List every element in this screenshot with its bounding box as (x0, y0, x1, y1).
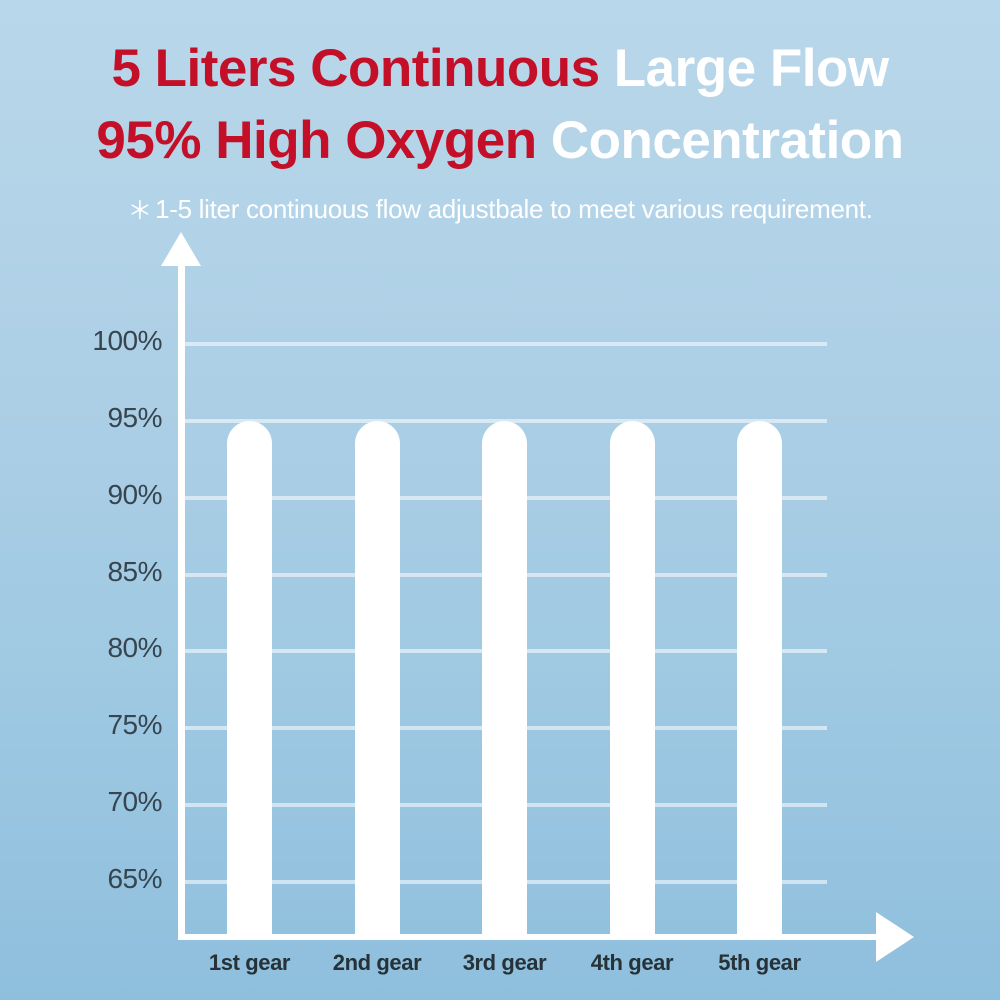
bar (737, 421, 782, 936)
y-axis-line (178, 262, 185, 940)
y-axis-tick-label: 65% (52, 863, 162, 895)
y-axis-tick-label: 75% (52, 709, 162, 741)
y-axis-arrow-icon (161, 232, 201, 266)
y-axis-tick-label: 70% (52, 786, 162, 818)
bar (227, 421, 272, 936)
y-axis-tick-label: 80% (52, 632, 162, 664)
bar (610, 421, 655, 936)
bar-chart: 100%95%90%85%80%75%70%65% 1st gear2nd ge… (0, 0, 1000, 1000)
poster-background: 5 Liters Continuous Large Flow 95% High … (0, 0, 1000, 1000)
x-axis-line (178, 934, 878, 940)
x-axis-arrow-icon (876, 912, 914, 962)
y-axis-tick-label: 95% (52, 402, 162, 434)
x-axis-tick-label: 5th gear (680, 950, 840, 976)
bar (355, 421, 400, 936)
y-axis-tick-label: 100% (52, 325, 162, 357)
gridline (185, 342, 827, 346)
y-axis-tick-label: 85% (52, 556, 162, 588)
y-axis-tick-label: 90% (52, 479, 162, 511)
bar (482, 421, 527, 936)
